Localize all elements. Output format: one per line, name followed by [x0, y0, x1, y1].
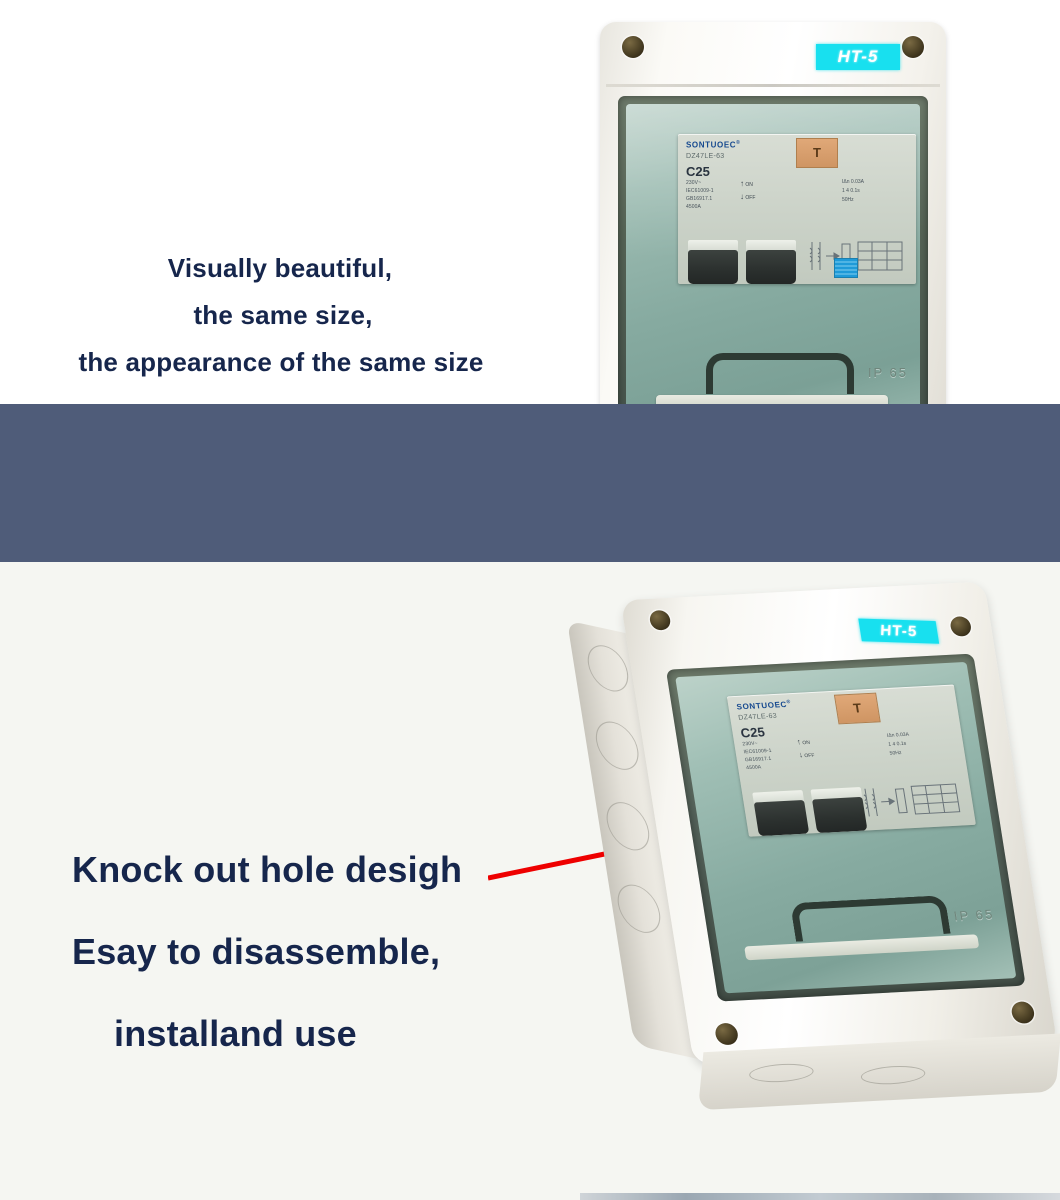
breaker-toggle-1[interactable] [688, 250, 738, 284]
wiring-diagram-icon [806, 234, 910, 278]
breaker-position-marks: ↑ ON ↓ OFF [796, 736, 816, 762]
bottom-caption-block: Knock out hole desigh Esay to disassembl… [72, 852, 632, 1098]
breaker-standard-1: IEC61009-1 [743, 748, 772, 755]
test-button[interactable]: T [834, 693, 881, 725]
breaker-toggle-1[interactable] [754, 800, 810, 836]
test-button-label: T [852, 700, 862, 715]
lid-seam [606, 84, 940, 87]
rcd-specification: IΔn 0.03A 1 4 0.1s 50Hz [886, 728, 956, 758]
breaker-voltage: 230V~ [686, 180, 701, 186]
breaker-voltage: 230V~ [742, 741, 758, 748]
circuit-breaker-module: SONTUOEC® DZ47LE-63 C25 230V~ IEC61009-1… [678, 134, 916, 284]
top-feature-section: Visually beautiful, the same size, the a… [0, 0, 1060, 404]
test-button-label: T [813, 145, 821, 160]
next-image-top-edge [580, 1193, 1060, 1200]
arrow-down-icon: ↓ [798, 750, 803, 759]
knockout-hole-2 [592, 717, 641, 774]
top-caption-line-1: Visually beautiful, [0, 255, 560, 281]
breaker-brand: SONTUOEC® [736, 699, 792, 711]
ip-rating-mark: IP 65 [868, 365, 908, 380]
knockout-hole-4 [614, 880, 663, 937]
ht5-badge-text: HT-5 [879, 622, 919, 640]
blue-marker-chip [834, 258, 858, 278]
enclosure-body: HT-5 SONTUOEC® DZ47LE-63 C25 230V~ IEC61… [620, 581, 1057, 1064]
breaker-brand: SONTUOEC® [686, 140, 740, 150]
breaker-model: DZ47LE-63 [738, 713, 778, 722]
rcd-specification: IΔn 0.03A 1 4 0.1s 50Hz [842, 178, 908, 205]
arrow-up-icon: ↑ [796, 737, 801, 746]
circuit-breaker-module: SONTUOEC® DZ47LE-63 C25 230V~ IEC61009-1… [727, 685, 976, 837]
top-caption-line-2: the same size, [0, 302, 560, 328]
ht5-badge: HT-5 [816, 44, 900, 70]
screw-cap-top-right [902, 36, 924, 58]
door-handle[interactable] [790, 895, 951, 942]
breaker-model: DZ47LE-63 [686, 153, 725, 160]
breaker-breaking-capacity: 4500A [746, 764, 762, 771]
arrow-down-icon: ↓ [740, 192, 744, 201]
screw-cap-top-left [622, 36, 644, 58]
bottom-knockout-1 [748, 1062, 814, 1083]
breaker-standard-1: IEC61009-1 [686, 188, 714, 194]
knockout-hole-1 [584, 641, 631, 695]
breaker-toggle-group[interactable] [752, 784, 880, 836]
arrow-up-icon: ↑ [740, 179, 744, 188]
door-handle[interactable] [706, 353, 854, 394]
breaker-rating: C25 [686, 164, 710, 179]
ht5-badge-text: HT-5 [838, 47, 879, 66]
bottom-knockout-2 [860, 1064, 926, 1085]
distribution-box-angled-view: HT-5 SONTUOEC® DZ47LE-63 C25 230V~ IEC61… [610, 570, 1040, 1130]
breaker-position-marks: ↑ ON ↓ OFF [740, 178, 755, 204]
breaker-toggle-group[interactable] [688, 238, 808, 284]
bottom-caption-line-3: installand use [72, 1016, 632, 1052]
distribution-box-front-view: HT-5 SONTUOEC® DZ47LE-63 C25 230V~ IEC61… [600, 22, 946, 404]
breaker-toggle-2[interactable] [812, 797, 868, 833]
ht5-badge: HT-5 [858, 619, 939, 644]
breaker-breaking-capacity: 4500A [686, 204, 701, 210]
test-button[interactable]: T [796, 138, 838, 168]
breaker-standard-2: GB16917.1 [686, 196, 712, 202]
bottom-caption-line-2: Esay to disassemble, [72, 934, 632, 970]
section-divider-band [0, 404, 1060, 562]
transparent-cover-frame: SONTUOEC® DZ47LE-63 C25 230V~ IEC61009-1… [666, 654, 1026, 1002]
ip-rating-mark: IP 65 [953, 907, 996, 924]
top-caption-line-3: the appearance of the same size [0, 349, 560, 375]
breaker-toggle-2[interactable] [746, 250, 796, 284]
top-caption-block: Visually beautiful, the same size, the a… [0, 255, 560, 396]
latch-bar[interactable] [656, 395, 888, 404]
breaker-rating: C25 [740, 724, 766, 740]
transparent-cover-frame: SONTUOEC® DZ47LE-63 C25 230V~ IEC61009-1… [618, 96, 928, 404]
breaker-standard-2: GB16917.1 [745, 756, 772, 763]
knockout-hole-3 [603, 798, 652, 855]
